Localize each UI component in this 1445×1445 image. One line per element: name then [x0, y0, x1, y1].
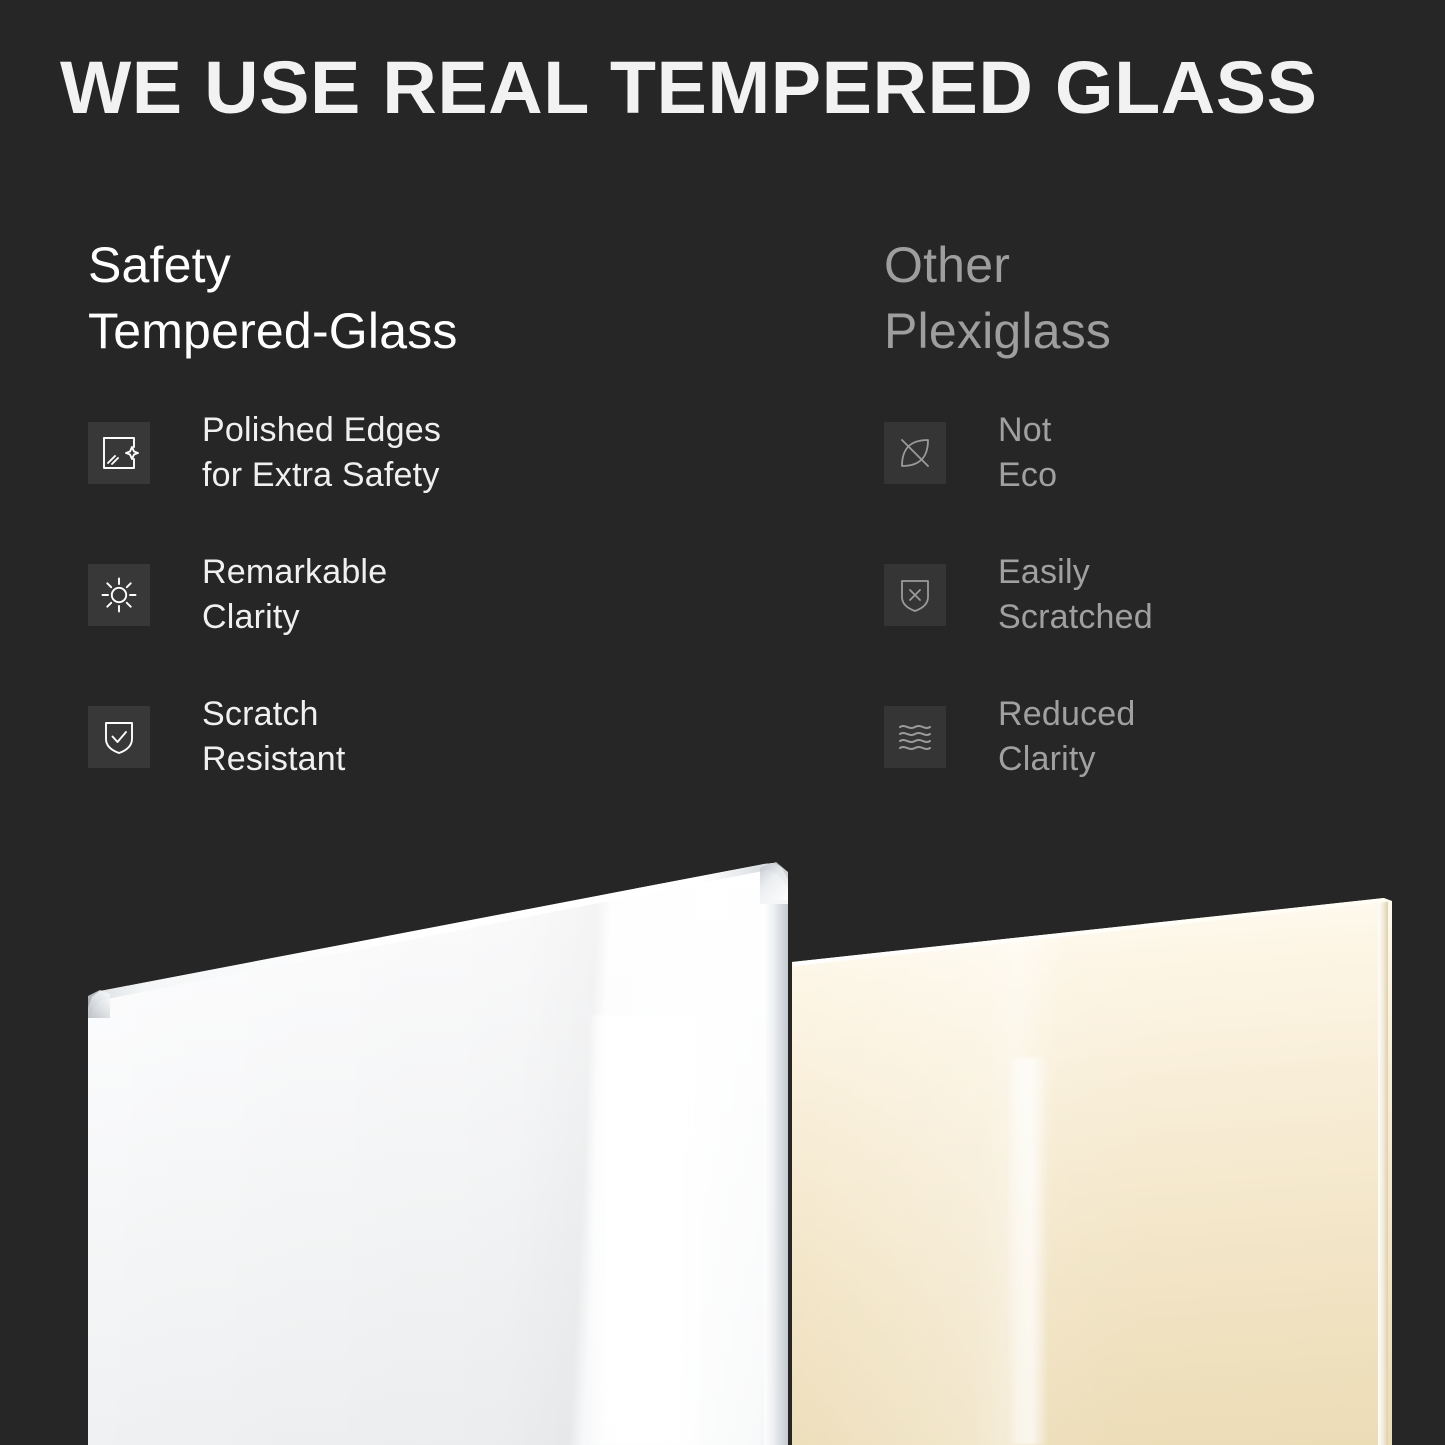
feature-label-line2: Eco: [998, 453, 1057, 498]
tempered-glass-panel-right-edge: [764, 900, 788, 1445]
feature-not-eco: Not Eco: [884, 422, 1424, 484]
icon-tile: [88, 706, 150, 768]
column-heading-right-line1: Other: [884, 237, 1010, 293]
feature-label-line2: Resistant: [202, 737, 346, 782]
plexiglass-panel-reflection: [1005, 1058, 1047, 1445]
tempered-glass-panel-corner-right: [760, 862, 788, 904]
wavy-lines-icon: [895, 717, 935, 757]
column-heading-left-line2: Tempered-Glass: [88, 298, 848, 364]
feature-label: Polished Edges for Extra Safety: [202, 408, 441, 498]
product-imagery: [0, 840, 1445, 1445]
icon-tile: [884, 564, 946, 626]
column-other-plexiglass: Other Plexiglass Not Eco: [884, 232, 1424, 768]
icon-tile: [884, 706, 946, 768]
column-heading-right-line2: Plexiglass: [884, 298, 1424, 364]
feature-label: Remarkable Clarity: [202, 550, 387, 640]
feature-list-right: Not Eco Easily Scratched: [884, 422, 1424, 768]
feature-list-left: Polished Edges for Extra Safety: [88, 422, 848, 768]
feature-label-line1: Remarkable: [202, 553, 387, 591]
page-title: WE USE REAL TEMPERED GLASS: [60, 40, 1427, 136]
shield-x-icon: [895, 575, 935, 615]
feature-scratch-resistant: Scratch Resistant: [88, 706, 848, 768]
feature-label-line1: Not: [998, 411, 1052, 449]
shield-check-icon: [99, 717, 139, 757]
feature-label-line2: for Extra Safety: [202, 453, 441, 498]
feature-label-line2: Clarity: [998, 737, 1136, 782]
feature-easily-scratched: Easily Scratched: [884, 564, 1424, 626]
feature-label-line1: Scratch: [202, 695, 319, 733]
feature-polished-edges: Polished Edges for Extra Safety: [88, 422, 848, 484]
feature-label-line1: Easily: [998, 553, 1090, 591]
feature-label-line2: Clarity: [202, 595, 387, 640]
polished-glass-sparkle-icon: [99, 433, 139, 473]
feature-label-line1: Polished Edges: [202, 411, 441, 449]
column-heading-left-line1: Safety: [88, 237, 231, 293]
feature-label-line2: Scratched: [998, 595, 1153, 640]
column-heading-left: Safety Tempered-Glass: [88, 232, 848, 364]
feature-label-line1: Reduced: [998, 695, 1136, 733]
feature-label: Easily Scratched: [998, 550, 1153, 640]
icon-tile: [884, 422, 946, 484]
icon-tile: [88, 422, 150, 484]
column-heading-right: Other Plexiglass: [884, 232, 1424, 364]
tempered-glass-panel-corner-left: [88, 990, 110, 1018]
icon-tile: [88, 564, 150, 626]
feature-label: Reduced Clarity: [998, 692, 1136, 782]
column-safety-tempered-glass: Safety Tempered-Glass: [88, 232, 848, 768]
plexiglass-panel-edge: [1378, 899, 1388, 1445]
feature-label: Not Eco: [998, 408, 1057, 498]
leaf-crossed-out-icon: [895, 433, 935, 473]
plexiglass-panel: [792, 898, 1392, 1445]
feature-reduced-clarity: Reduced Clarity: [884, 706, 1424, 768]
tempered-glass-panel-reflection: [585, 1015, 703, 1445]
comparison-infographic: WE USE REAL TEMPERED GLASS Safety Temper…: [0, 0, 1445, 1445]
feature-remarkable-clarity: Remarkable Clarity: [88, 564, 848, 626]
feature-label: Scratch Resistant: [202, 692, 346, 782]
sun-brightness-icon: [99, 575, 139, 615]
